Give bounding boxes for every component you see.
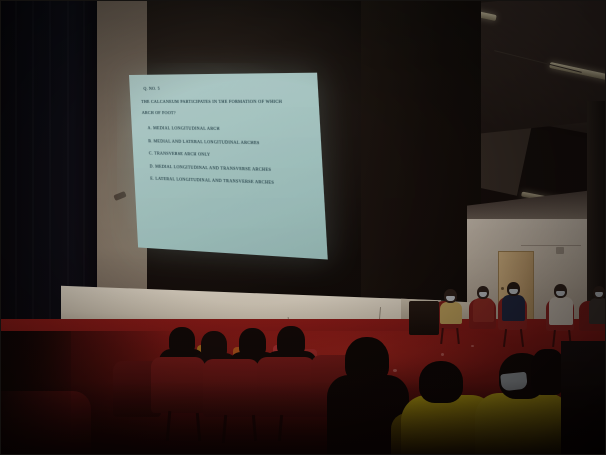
slide-option-c: C. TRANSVERSE ARCH ONLY bbox=[149, 152, 313, 160]
floor-speck bbox=[393, 369, 397, 372]
audience-silhouette-head bbox=[201, 331, 227, 359]
slide-option-d: D. MEDIAL LONGITUDINAL AND TRANSVERSE AR… bbox=[149, 164, 313, 173]
bottom-vignette bbox=[1, 381, 606, 455]
podium-table bbox=[409, 301, 439, 335]
side-curtain bbox=[361, 1, 481, 331]
audience-silhouette-head bbox=[169, 327, 195, 354]
audience-silhouette-head bbox=[239, 328, 266, 357]
slide-option-b: B. MEDIAL AND LATERAL LONGITUDINAL ARCHE… bbox=[148, 139, 312, 146]
floor-speck bbox=[471, 345, 474, 347]
slide-option-a: A. MEDIAL LONGITUDINAL ARCH bbox=[147, 127, 311, 134]
photograph-auditorium-lecture: Q. NO. 5 THE CALCANEUM PARTICIPATES IN T… bbox=[0, 0, 606, 455]
slide-option-e: E. LATERAL LONGITUDINAL AND TRANSVERSE A… bbox=[150, 177, 314, 187]
slide-question-line-2: ARCH OF FOOT? bbox=[142, 111, 311, 116]
floor-speck bbox=[441, 353, 444, 356]
back-wall-line bbox=[521, 245, 581, 246]
slide-question-number: Q. NO. 5 bbox=[143, 86, 309, 92]
audience-silhouette-head bbox=[277, 326, 305, 356]
door-knob-icon[interactable] bbox=[501, 287, 504, 290]
back-wall-mark bbox=[556, 247, 564, 254]
slide-question-line-1: THE CALCANEUM PARTICIPATES IN THE FORMAT… bbox=[141, 100, 310, 105]
projected-slide: Q. NO. 5 THE CALCANEUM PARTICIPATES IN T… bbox=[129, 73, 328, 260]
